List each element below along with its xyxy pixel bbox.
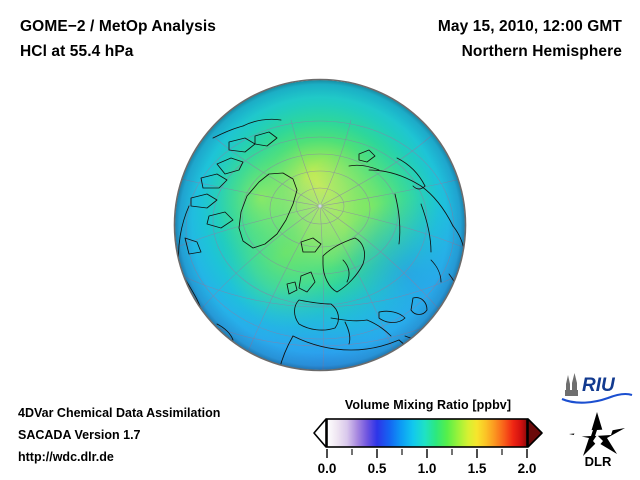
footer-left: 4DVar Chemical Data Assimilation SACADA … xyxy=(18,402,220,468)
analysis-title: GOME−2 / MetOp Analysis xyxy=(20,14,216,39)
cathedral-icon xyxy=(565,373,578,396)
colorbar-extend-low xyxy=(314,419,326,447)
species-level-label: HCl at 55.4 hPa xyxy=(20,39,216,64)
riu-wordmark: RIU xyxy=(582,375,616,396)
header-left: GOME−2 / MetOp Analysis HCl at 55.4 hPa xyxy=(20,14,216,64)
hemisphere-label: Northern Hemisphere xyxy=(438,39,622,64)
colorbar-tick-label: 1.0 xyxy=(418,461,437,476)
dlr-emblem-icon xyxy=(569,412,625,456)
dlr-wordmark: DLR xyxy=(585,454,612,468)
version-label: SACADA Version 1.7 xyxy=(18,424,220,446)
colorbar-extend-high xyxy=(528,419,542,447)
colorbar-tick-label: 0.0 xyxy=(318,461,337,476)
header-right: May 15, 2010, 12:00 GMT Northern Hemisph… xyxy=(438,14,622,64)
colorbar-gradient xyxy=(327,419,527,447)
colorbar: Volume Mixing Ratio [ppbv] xyxy=(312,398,544,478)
colorbar-tick-labels: 0.0 0.5 1.0 1.5 2.0 xyxy=(318,461,537,476)
colorbar-tick-label: 1.5 xyxy=(468,461,487,476)
north-pole-marker xyxy=(318,204,321,207)
dlr-logo: DLR xyxy=(567,410,629,468)
colorbar-tick-label: 0.5 xyxy=(368,461,387,476)
method-label: 4DVar Chemical Data Assimilation xyxy=(18,402,220,424)
globe-map xyxy=(173,78,467,372)
colorbar-ticks xyxy=(327,449,527,458)
riu-logo: RIU xyxy=(560,372,634,406)
colorbar-title: Volume Mixing Ratio [ppbv] xyxy=(312,398,544,412)
website-link[interactable]: http://wdc.dlr.de xyxy=(18,446,220,468)
colorbar-tick-label: 2.0 xyxy=(518,461,537,476)
datetime-label: May 15, 2010, 12:00 GMT xyxy=(438,14,622,39)
